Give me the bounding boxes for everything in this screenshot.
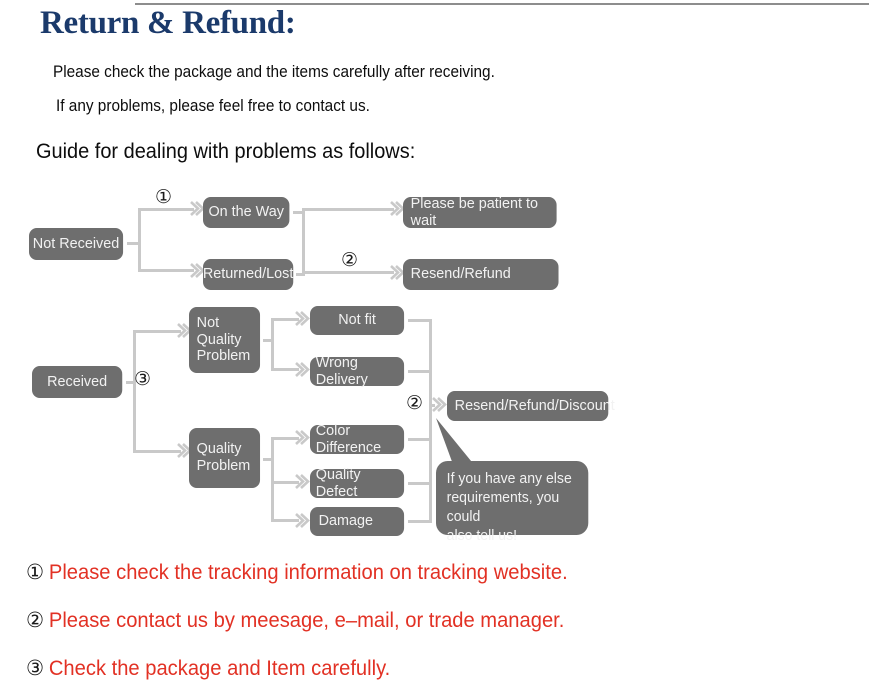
note-2-text: Please contact us by meesage, e–mail, or…	[49, 609, 564, 632]
arrow-to-returned-lost	[190, 262, 203, 278]
note-3-text: Check the package and Item carefully.	[49, 657, 390, 680]
connector-flow1-spine	[302, 208, 305, 273]
connector-to-resend-refund	[302, 271, 394, 274]
return-refund-infographic: Return & Refund: Please check the packag…	[0, 0, 869, 690]
page-title: Return & Refund:	[40, 5, 296, 42]
arrow-to-outcome	[432, 396, 445, 412]
connector-to-please-wait	[302, 208, 394, 211]
connector-received-spine	[133, 330, 136, 453]
guide-heading: Guide for dealing with problems as follo…	[36, 140, 415, 164]
node-resend-refund: Resend/Refund	[403, 259, 559, 290]
note-2: ②Please contact us by meesage, e–mail, o…	[26, 608, 564, 633]
node-not-received: Not Received	[29, 228, 123, 260]
connector-not-quality-spine	[271, 318, 274, 371]
connector-to-on-the-way	[138, 208, 194, 211]
node-returned-lost: Returned/Lost	[203, 259, 293, 290]
arrow-to-please-wait	[390, 200, 403, 216]
note-3-number: ③	[26, 656, 44, 680]
connector-not-received-spine	[138, 208, 141, 272]
node-please-be-patient: Please be patient to wait	[403, 197, 557, 228]
node-received: Received	[32, 366, 122, 398]
marker-step-3-flow2: ③	[134, 370, 151, 389]
marker-step-2-flow1: ②	[341, 251, 358, 270]
node-not-quality-problem: Not Quality Problem	[189, 307, 260, 373]
node-quality-problem: Quality Problem	[189, 428, 260, 488]
node-not-fit: Not fit	[310, 306, 404, 335]
connector-to-not-quality	[133, 330, 181, 333]
node-damage: Damage	[310, 507, 404, 536]
arrow-to-not-fit	[295, 310, 308, 326]
arrow-to-on-the-way	[190, 200, 203, 216]
note-3: ③Check the package and Item carefully.	[26, 656, 390, 681]
marker-step-2-flow2: ②	[406, 394, 423, 413]
node-quality-defect: Quality Defect	[310, 469, 404, 498]
connector-to-quality	[133, 450, 181, 453]
speech-bubble-extra-requirements: If you have any else requirements, you c…	[436, 461, 588, 535]
node-color-difference: Color Difference	[310, 425, 404, 454]
connector-outcome-collector-spine	[429, 319, 432, 523]
arrow-to-color-difference	[295, 429, 308, 445]
arrow-to-damage	[295, 512, 308, 528]
note-1: ①Please check the tracking information o…	[26, 560, 568, 585]
connector-quality-spine	[271, 437, 274, 521]
note-2-number: ②	[26, 608, 44, 632]
arrow-to-wrong-delivery	[295, 361, 308, 377]
node-wrong-delivery: Wrong Delivery	[310, 357, 404, 386]
intro-line-2: If any problems, please feel free to con…	[56, 97, 370, 116]
arrow-to-resend-refund	[390, 264, 403, 280]
note-1-text: Please check the tracking information on…	[49, 561, 568, 584]
node-on-the-way: On the Way	[203, 197, 289, 228]
marker-step-1-flow1: ①	[155, 188, 172, 207]
connector-to-returned-lost	[138, 269, 194, 272]
note-1-number: ①	[26, 560, 44, 584]
intro-line-1: Please check the package and the items c…	[53, 63, 495, 82]
arrow-to-quality-defect	[295, 473, 308, 489]
